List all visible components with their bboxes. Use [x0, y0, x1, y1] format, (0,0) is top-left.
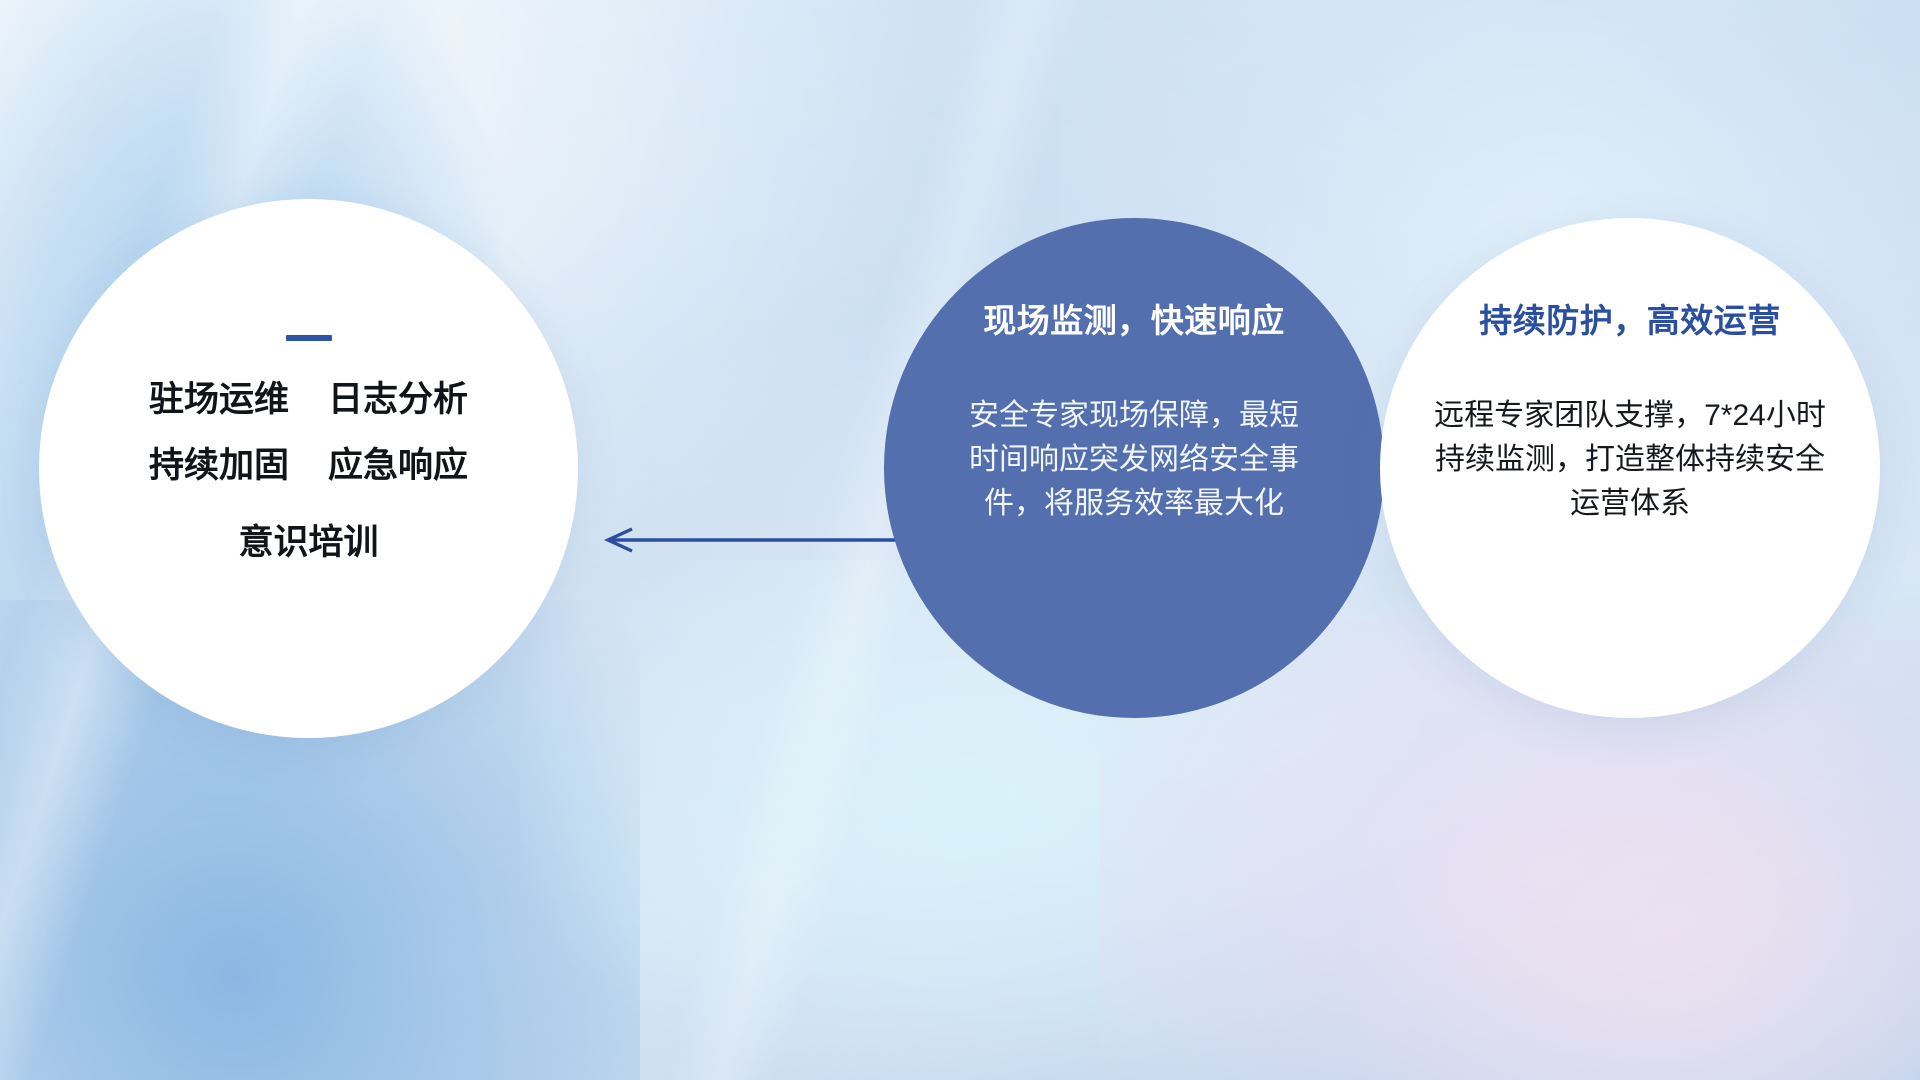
capability-circle-right[interactable]: 持续防护，高效运营 远程专家团队支撑，7*24小时持续监测，打造整体持续安全运营… — [1380, 218, 1880, 718]
flow-arrow — [596, 527, 896, 553]
circle-right-description: 远程专家团队支撑，7*24小时持续监测，打造整体持续安全运营体系 — [1423, 394, 1837, 525]
circle-right-title: 持续防护，高效运营 — [1479, 304, 1781, 337]
circle-middle-title: 现场监测，快速响应 — [983, 304, 1285, 337]
three-circle-flow-diagram: 驻场运维 日志分析 持续加固 应急响应 意识培训 现场监测，快速响应 安全专家现… — [0, 0, 1920, 1080]
capability-circle-left[interactable]: 驻场运维 日志分析 持续加固 应急响应 意识培训 — [39, 199, 578, 738]
capability-circle-middle[interactable]: 现场监测，快速响应 安全专家现场保障，最短时间响应突发网络安全事件，将服务效率最… — [884, 218, 1384, 718]
capability-line-1: 驻场运维 日志分析 — [149, 382, 468, 417]
circle-middle-description: 安全专家现场保障，最短时间响应突发网络安全事件，将服务效率最大化 — [964, 394, 1304, 525]
capability-keyword-list: 驻场运维 日志分析 持续加固 应急响应 意识培训 — [149, 382, 468, 560]
divider-dash-icon — [286, 335, 332, 341]
capability-line-2: 持续加固 应急响应 — [149, 448, 468, 483]
capability-line-3: 意识培训 — [149, 525, 468, 560]
